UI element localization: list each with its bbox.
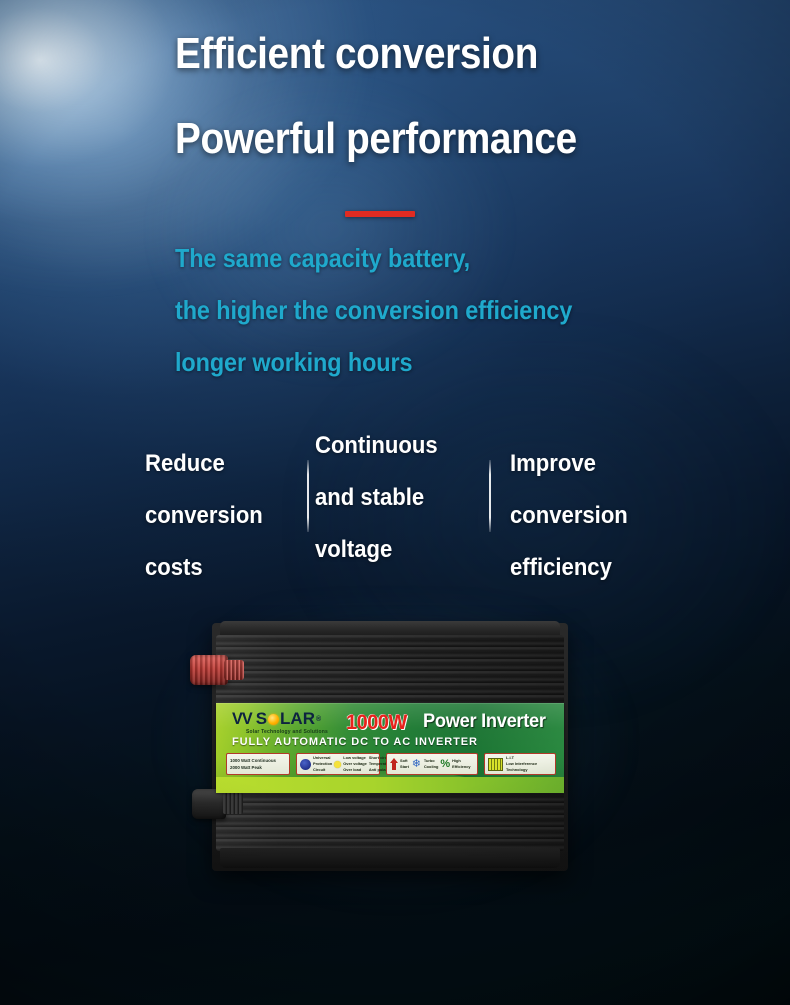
- protection-col-1: Universal Protection Circuit: [313, 755, 332, 773]
- brand-s-text: S: [256, 709, 267, 729]
- terminal-knob-red: [190, 655, 228, 685]
- heatsink-fins-bottom: [216, 791, 564, 851]
- spec-power-line-1: 1000 Watt Continuous: [230, 757, 276, 764]
- subhead-line-2: the higher the conversion efficiency: [175, 297, 733, 323]
- spec-performance: Soft Start ❄ Turbo Cooling % High Effici…: [386, 753, 478, 775]
- feature-divider-2: [489, 460, 491, 532]
- perf-1-l2: Start: [400, 764, 409, 770]
- product-label: VV S LAR ® Solar Technology and Solution…: [216, 703, 564, 793]
- feature-divider-1: [307, 460, 309, 532]
- wattage-label: 1000W: [346, 711, 407, 735]
- feature-2-line-3: voltage: [315, 524, 438, 576]
- brand-lar-text: LAR: [280, 709, 315, 729]
- product-marketing-banner: Efficient conversion Powerful performanc…: [0, 0, 790, 1005]
- negative-terminal-black: [192, 789, 242, 819]
- feature-column-3: Improve conversion efficiency: [510, 438, 638, 594]
- feature-columns: Reduce conversion costs Continuous and s…: [140, 430, 680, 580]
- product-title: Power Inverter: [423, 711, 546, 733]
- feature-2-line-2: and stable: [315, 472, 438, 524]
- protection-c1-l3: Circuit: [313, 767, 332, 773]
- spec-protection: Universal Protection Circuit Low voltage…: [296, 753, 380, 775]
- headline-block: Efficient conversion Powerful performanc…: [175, 32, 775, 161]
- feature-3-line-1: Improve: [510, 438, 628, 490]
- housing-bottom-cap: [220, 848, 560, 868]
- red-divider-bar: [345, 211, 415, 217]
- feature-column-2: Continuous and stable voltage: [315, 420, 448, 576]
- heatsink-fins-top: [216, 635, 564, 705]
- sun-icon: [268, 714, 279, 725]
- terminal-neck-black: [223, 793, 243, 814]
- shield-icon: [300, 759, 311, 770]
- spec-power-rating: 1000 Watt Continuous 2000 Watt Peak: [226, 753, 290, 775]
- headline-line-2: Powerful performance: [175, 117, 703, 161]
- terminal-knob-black: [192, 789, 226, 819]
- spec-badge-row: 1000 Watt Continuous 2000 Watt Peak Univ…: [226, 753, 556, 775]
- arrow-up-icon: [390, 758, 398, 770]
- perf-soft-start: Soft Start: [400, 758, 409, 770]
- registered-mark: ®: [316, 716, 321, 723]
- brand-tagline: Solar Technology and Solutions: [246, 729, 328, 735]
- feature-1-line-1: Reduce: [145, 438, 263, 490]
- brand-vv-text: VV: [232, 709, 252, 729]
- brand-logo: VV S LAR ® Solar Technology and Solution…: [232, 709, 328, 735]
- power-inverter-product-image: VV S LAR ® Solar Technology and Solution…: [190, 615, 600, 885]
- subhead-block: The same capacity battery, the higher th…: [175, 245, 790, 375]
- protection-col-2: Low voltage Over voltage Over load: [343, 755, 367, 773]
- feature-3-line-3: efficiency: [510, 542, 628, 594]
- subhead-line-3: longer working hours: [175, 349, 733, 375]
- headline-line-1: Efficient conversion: [175, 32, 703, 76]
- warning-dot-icon: [334, 761, 341, 768]
- protection-c2-l3: Over load: [343, 767, 367, 773]
- spec-interference: L.I.T Low Interference Technology: [484, 753, 556, 775]
- percent-icon: %: [440, 759, 450, 770]
- grid-icon: [488, 758, 503, 771]
- terminal-neck-red: [224, 660, 244, 680]
- fan-icon: ❄: [411, 759, 422, 770]
- perf-3-l2: Efficiency: [452, 764, 470, 770]
- label-footer-band: [216, 777, 564, 793]
- product-subtitle: FULLY AUTOMATIC DC TO AC INVERTER: [232, 736, 478, 748]
- feature-2-line-1: Continuous: [315, 420, 438, 472]
- perf-high-efficiency: High Efficiency: [452, 758, 470, 770]
- lit-text-block: L.I.T Low Interference Technology: [506, 755, 537, 773]
- feature-1-line-3: costs: [145, 542, 263, 594]
- feature-column-1: Reduce conversion costs: [145, 438, 273, 594]
- spec-power-line-2: 2000 Watt Peak: [230, 764, 262, 771]
- positive-terminal-red: [190, 655, 242, 685]
- perf-2-l2: Cooling: [424, 764, 438, 770]
- perf-turbo-cooling: Turbo Cooling: [424, 758, 438, 770]
- feature-1-line-2: conversion: [145, 490, 263, 542]
- subhead-line-1: The same capacity battery,: [175, 245, 733, 271]
- lit-l3: Technology: [506, 767, 537, 773]
- feature-3-line-2: conversion: [510, 490, 628, 542]
